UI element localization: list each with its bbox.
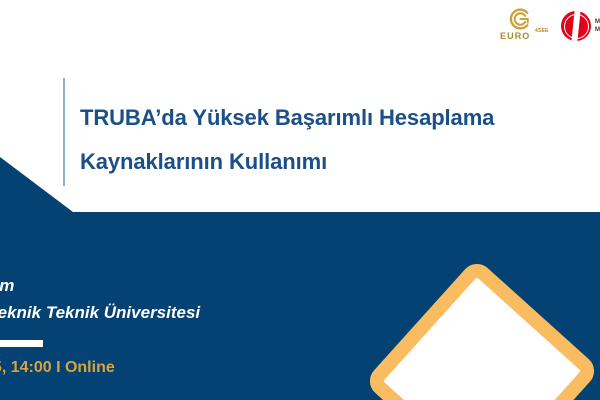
metu-logo: M M xyxy=(561,11,600,41)
euro-c-swirl-icon xyxy=(507,6,533,32)
title-line-1: TRUBA’da Yüksek Başarımlı Hesaplama xyxy=(80,96,580,140)
divider-bar xyxy=(0,340,43,347)
title-accent-rule xyxy=(63,78,65,186)
page-title: TRUBA’da Yüksek Başarımlı Hesaplama Kayn… xyxy=(80,96,580,184)
euro4see-logo: EURO 4SEE xyxy=(499,6,551,46)
euro-superscript: 4SEE xyxy=(535,28,549,34)
speaker-affiliation: oğu Teknik Teknik Üniversitesi xyxy=(0,299,412,326)
logo-group: EURO 4SEE M M xyxy=(499,6,600,46)
metu-wordmark: M M xyxy=(595,18,600,34)
event-datetime: n 2025, 14:00 I Online xyxy=(0,359,115,377)
speaker-block: Yıldırım oğu Teknik Teknik Üniversitesi xyxy=(0,272,412,326)
euro-wordmark: EURO xyxy=(500,31,530,41)
metu-wordmark-line-1: M xyxy=(595,18,600,26)
metu-circle-icon xyxy=(561,11,591,41)
event-poster: TRUBA’da Yüksek Başarımlı Hesaplama Kayn… xyxy=(0,0,600,400)
title-line-2: Kaynaklarının Kullanımı xyxy=(80,140,580,184)
metu-wordmark-line-2: M xyxy=(595,26,600,34)
speaker-name: Yıldırım xyxy=(0,272,412,299)
